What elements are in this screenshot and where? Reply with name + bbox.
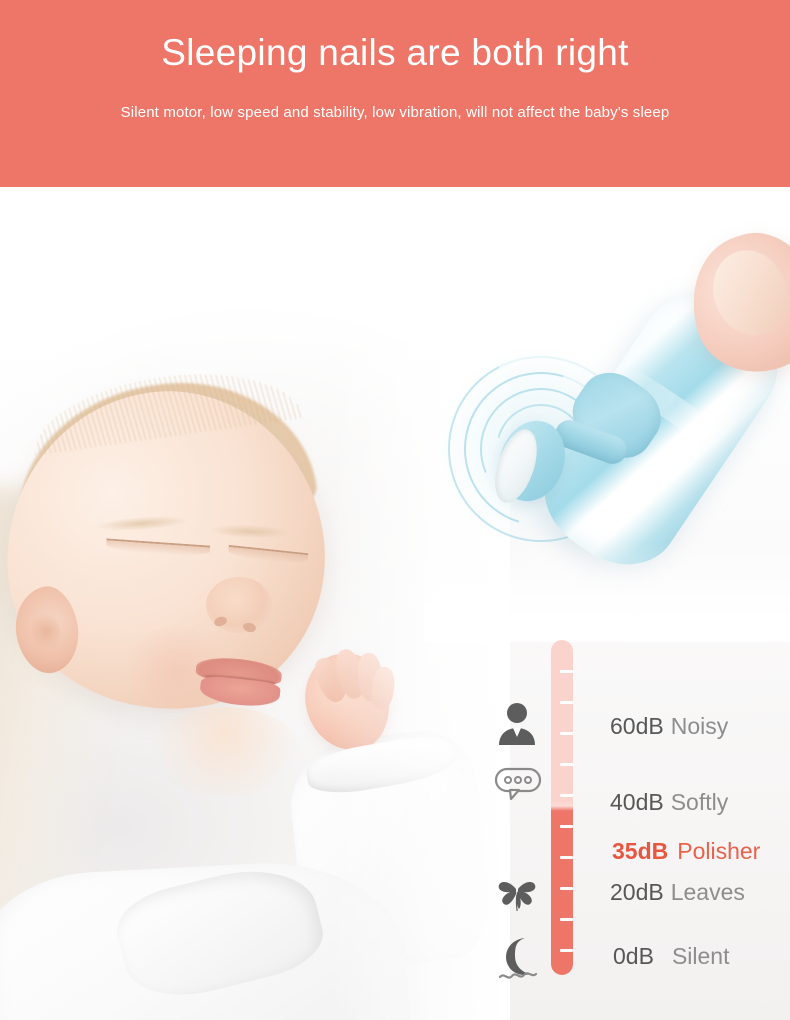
scale-row-40db: 40dBSoftly [610, 791, 728, 814]
moon-icon [494, 935, 540, 983]
decibel-scale: 60dBNoisy 40dBSoftly 35dBPolisher 20dBLe… [0, 187, 790, 1020]
scale-row-0db: 0dBSilent [613, 945, 729, 968]
person-icon [494, 702, 540, 746]
header-banner: Sleeping nails are both right Silent mot… [0, 0, 790, 187]
page-subtitle: Silent motor, low speed and stability, l… [121, 104, 670, 121]
scale-row-60db: 60dBNoisy [610, 715, 728, 738]
scale-row-35db-polisher: 35dBPolisher [612, 840, 760, 863]
decibel-gradient-bar [551, 640, 573, 975]
clover-icon [494, 869, 540, 915]
page-title: Sleeping nails are both right [161, 32, 628, 75]
product-photo-stage: 60dBNoisy 40dBSoftly 35dBPolisher 20dBLe… [0, 187, 790, 1020]
speech-bubble-icon [494, 767, 540, 801]
scale-row-20db: 20dBLeaves [610, 881, 745, 904]
